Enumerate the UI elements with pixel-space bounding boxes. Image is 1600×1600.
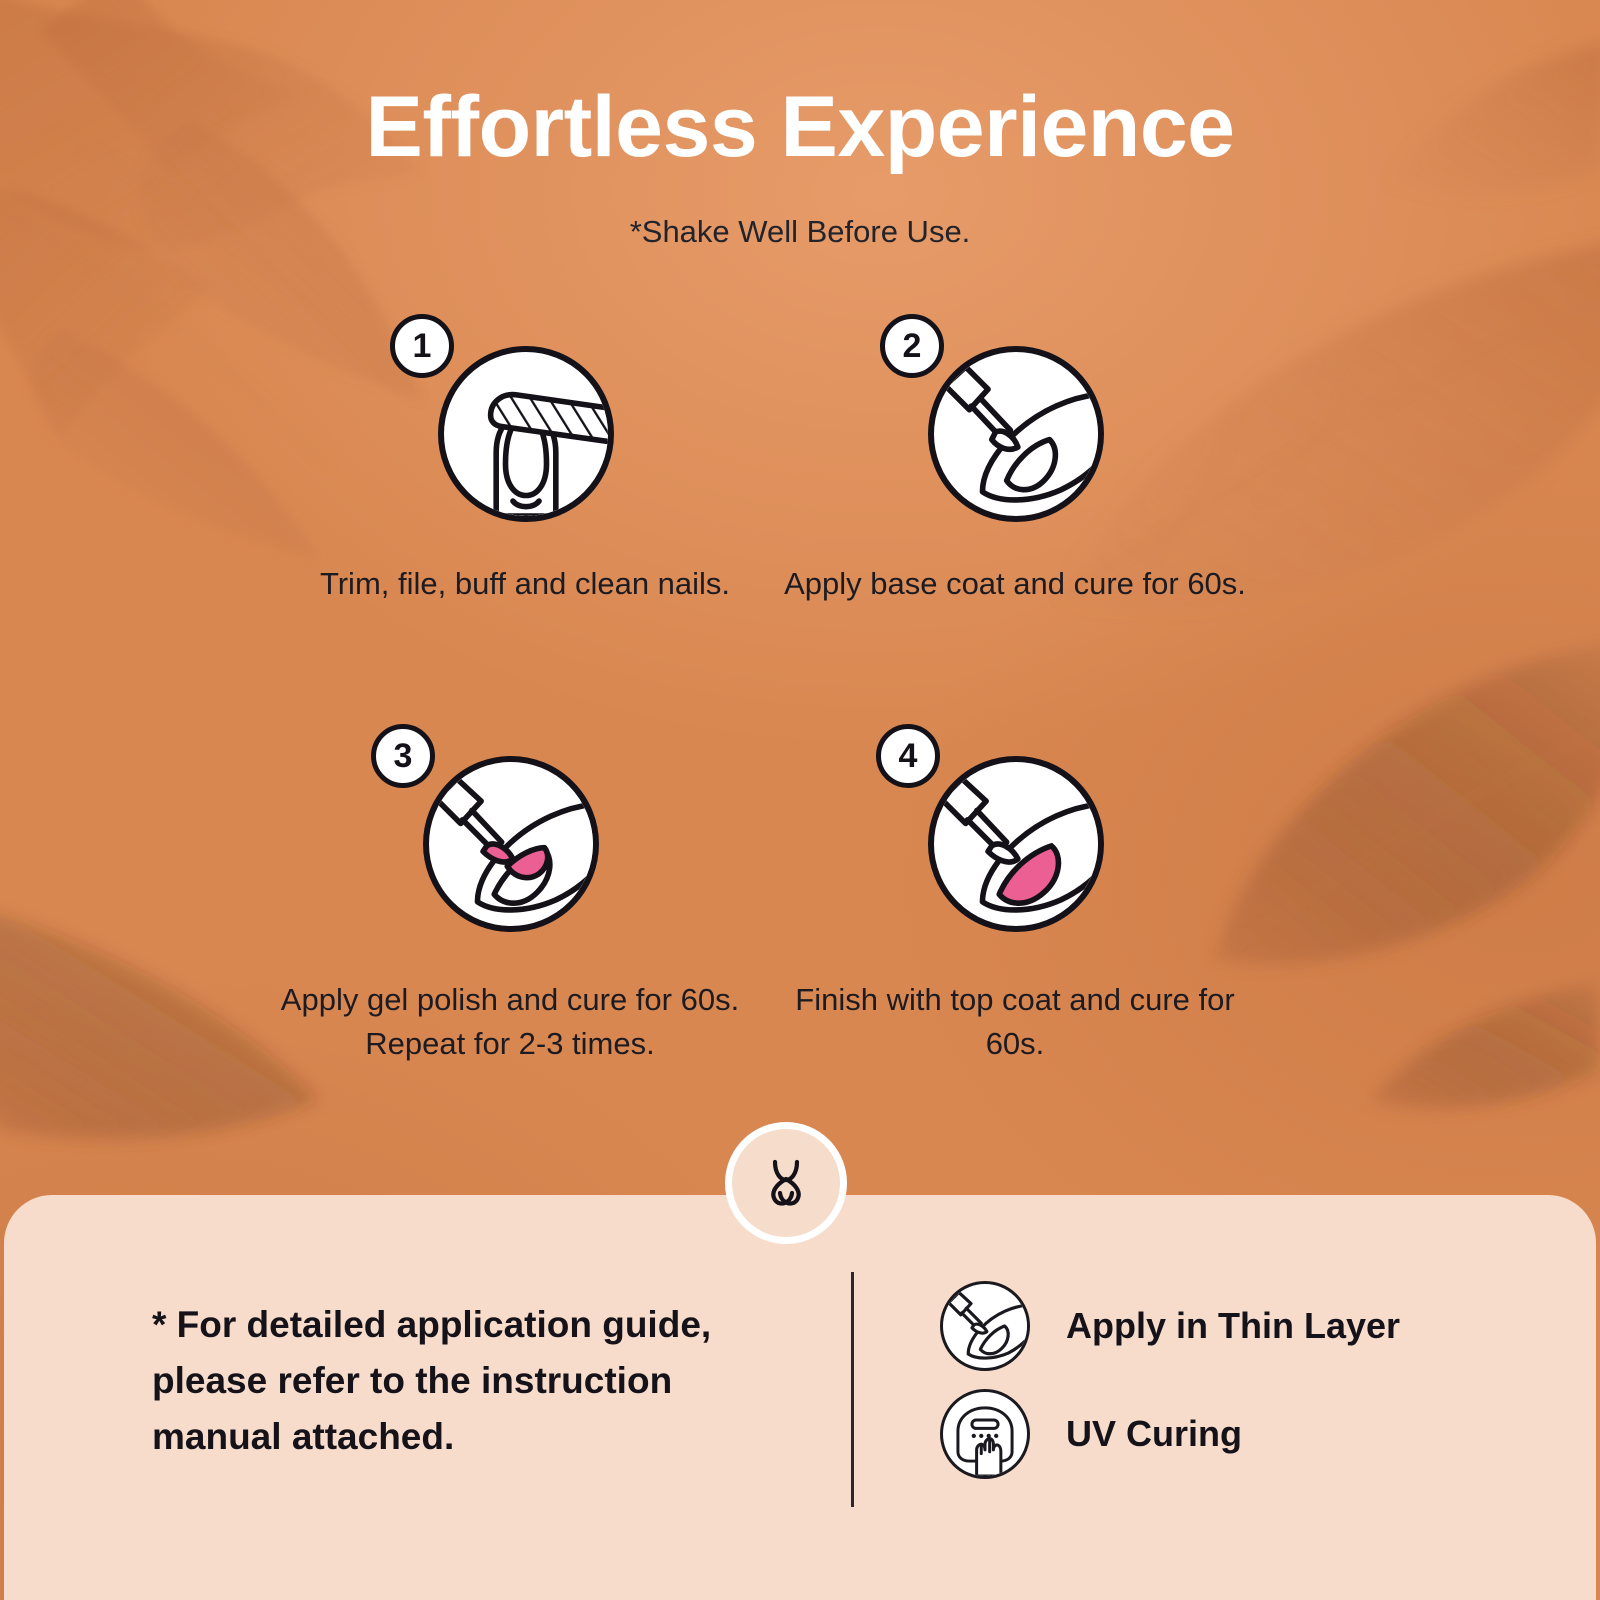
footer-note: * For detailed application guide, please… — [152, 1297, 752, 1466]
step-4: 4 — [780, 710, 1250, 970]
feature-uv-curing-label: UV Curing — [1066, 1413, 1242, 1455]
nail-file-icon — [438, 346, 614, 522]
brush-base-coat-icon — [928, 346, 1104, 522]
step-1-number-badge: 1 — [390, 314, 454, 378]
footer-features: Apply in Thin Layer — [940, 1272, 1400, 1488]
brush-top-coat-icon — [928, 756, 1104, 932]
step-2: 2 — [780, 300, 1250, 560]
step-3-number-badge: 3 — [371, 724, 435, 788]
page-subtitle: *Shake Well Before Use. — [0, 214, 1600, 250]
feature-apply-thin-layer-label: Apply in Thin Layer — [1066, 1305, 1400, 1347]
footer-divider — [851, 1272, 854, 1507]
step-4-art: 4 — [780, 710, 1250, 970]
feature-uv-curing: UV Curing — [940, 1380, 1400, 1488]
step-2-caption: Apply base coat and cure for 60s. — [780, 562, 1250, 606]
brush-thin-layer-icon — [940, 1281, 1030, 1371]
page-title: Effortless Experience — [0, 82, 1600, 172]
step-4-caption: Finish with top coat and cure for 60s. — [780, 978, 1250, 1066]
step-3-caption: Apply gel polish and cure for 60s. Repea… — [275, 978, 745, 1066]
infographic-page: Effortless Experience *Shake Well Before… — [0, 0, 1600, 1600]
step-2-art: 2 — [780, 300, 1250, 560]
step-3-art: 3 — [275, 710, 745, 970]
brush-gel-polish-partial-icon — [423, 756, 599, 932]
step-1-art: 1 — [290, 300, 760, 560]
step-2-number-badge: 2 — [880, 314, 944, 378]
step-1: 1 — [290, 300, 760, 560]
brand-loops-logo-icon — [725, 1122, 847, 1244]
feature-apply-thin-layer: Apply in Thin Layer — [940, 1272, 1400, 1380]
uv-lamp-icon — [940, 1389, 1030, 1479]
step-1-caption: Trim, file, buff and clean nails. — [290, 562, 760, 606]
step-3: 3 — [275, 710, 745, 970]
step-4-number-badge: 4 — [876, 724, 940, 788]
